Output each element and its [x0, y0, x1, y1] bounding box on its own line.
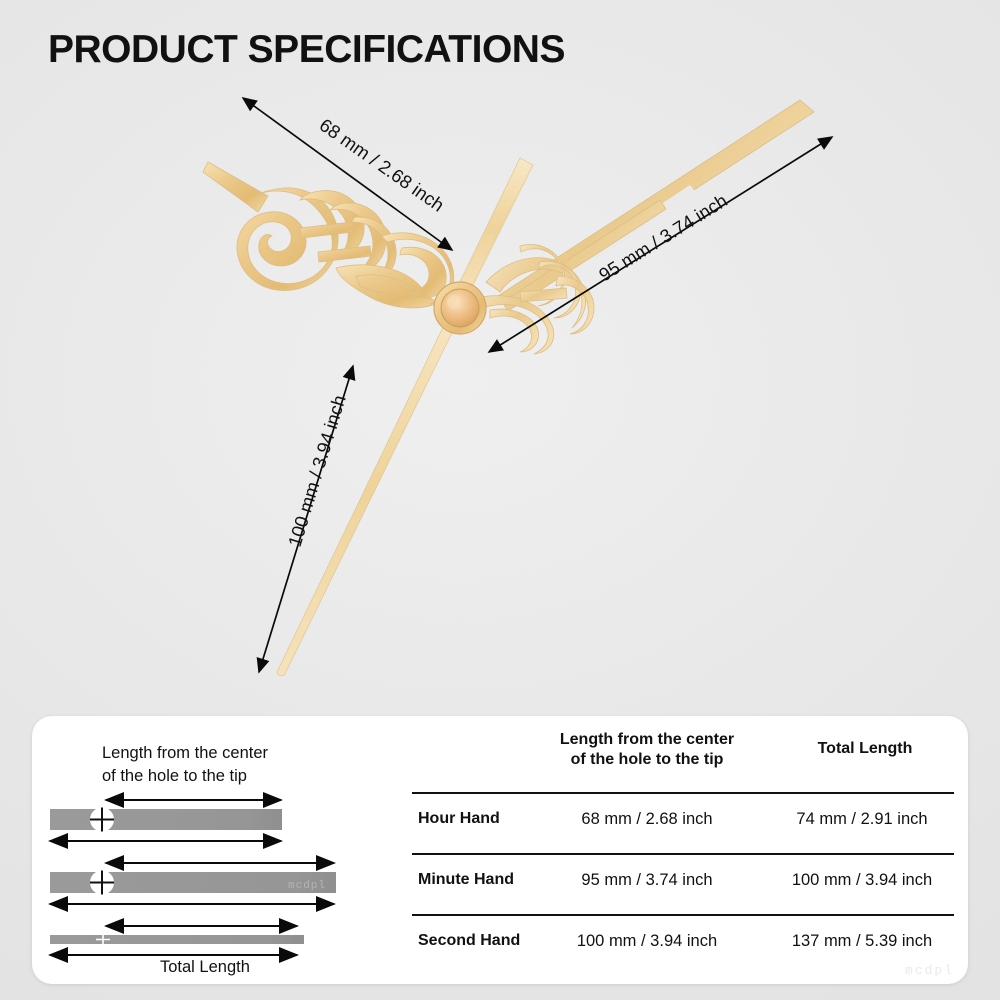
diagram-caption: Length from the center of the hole to th…: [102, 742, 268, 788]
table-row: Hour Hand 68 mm / 2.68 inch 74 mm / 2.91…: [404, 792, 968, 853]
second-hand-dimension-label: 100 mm / 3.94 inch: [284, 393, 350, 550]
table-row: Second Hand 100 mm / 3.94 inch 137 mm / …: [404, 914, 968, 975]
table-header-row: Length from the center of the hole to th…: [404, 730, 968, 786]
specifications-card: Length from the center of the hole to th…: [32, 716, 968, 984]
table-watermark: mcdpl: [905, 963, 954, 978]
cell-minute-total-length: 100 mm / 3.94 inch: [766, 871, 958, 890]
diagram-watermark: mcdpl: [288, 880, 326, 892]
measurement-diagram: Length from the center of the hole to th…: [32, 716, 432, 984]
row-label-minute-hand: Minute Hand: [418, 871, 546, 889]
second-hand-bar-group: [50, 926, 304, 955]
cell-second-total-length: 137 mm / 5.39 inch: [766, 932, 958, 951]
minute-hand-dimension: 95 mm / 3.74 inch: [489, 137, 832, 352]
diagram-total-length-label: Total Length: [160, 958, 250, 977]
cell-second-center-to-tip: 100 mm / 3.94 inch: [532, 932, 762, 951]
cell-minute-center-to-tip: 95 mm / 3.74 inch: [532, 871, 762, 890]
header-total-length: Total Length: [772, 740, 958, 758]
page-root: PRODUCT SPECIFICATIONS: [0, 0, 1000, 1000]
cell-hour-center-to-tip: 68 mm / 2.68 inch: [532, 810, 762, 829]
header-center-to-tip: Length from the center of the hole to th…: [532, 730, 762, 770]
product-hero-illustration: 68 mm / 2.68 inch 95 mm / 3.74 inch 100 …: [0, 0, 1000, 720]
minute-hand-graphic: [470, 100, 814, 354]
table-row: Minute Hand 95 mm / 3.74 inch 100 mm / 3…: [404, 853, 968, 914]
center-hub: [434, 282, 486, 334]
row-label-hour-hand: Hour Hand: [418, 810, 546, 828]
row-label-second-hand: Second Hand: [418, 932, 546, 950]
minute-hand-bar-group: mcdpl: [50, 863, 336, 904]
hour-hand-bar-group: [50, 800, 282, 841]
cell-hour-total-length: 74 mm / 2.91 inch: [766, 810, 958, 829]
specifications-table: Length from the center of the hole to th…: [404, 716, 968, 984]
